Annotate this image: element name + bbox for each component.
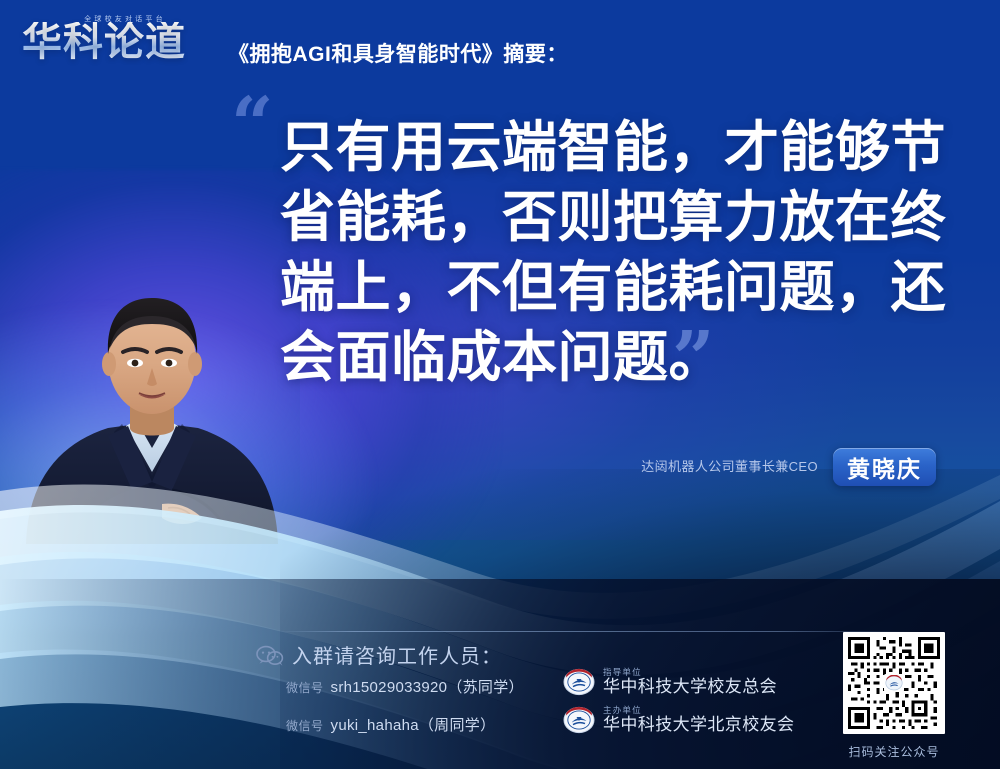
wechat-contact-row: 微信号 srh15029033920（苏同学） [286,676,524,697]
university-emblem-icon [563,668,595,696]
qr-code-block: 扫码关注公众号 [843,632,953,760]
organization-row: 指导单位 华中科技大学校友总会 [563,668,777,697]
wechat-label: 微信号 [286,679,324,696]
poster-root: 全球校友对话平台 华科论道 《拥抱AGI和具身智能时代》摘要： “ 只有用云端智… [0,0,1000,769]
attribution: 达闼机器人公司董事长兼CEO 黄晓庆 [606,448,936,488]
wechat-icon [256,645,284,667]
organization-name: 华中科技大学校友总会 [603,678,777,696]
university-emblem-icon [563,706,595,734]
quote-close-mark: ” [672,330,715,389]
organization-kicker: 指导单位 [603,668,777,677]
quote-line: 省能耗，否则把算力放在终 [280,182,960,252]
qr-caption: 扫码关注公众号 [843,743,945,760]
brand-logo: 全球校友对话平台 华科论道 [22,14,222,72]
organization-text: 主办单位 华中科技大学北京校友会 [603,706,794,735]
brand-name: 华科论道 [22,22,222,62]
organization-kicker: 主办单位 [603,706,794,715]
quote-line: 会面临成本问题。 [280,322,960,392]
speaker-name-badge: 黄晓庆 [833,448,936,486]
page-title: 《拥抱AGI和具身智能时代》摘要： [228,38,568,68]
header: 全球校友对话平台 华科论道 《拥抱AGI和具身智能时代》摘要： [0,0,1000,88]
contact-heading: 入群请咨询工作人员： [292,640,502,669]
footer-divider [278,631,918,632]
wechat-id: srh15029033920（苏同学） [331,676,524,697]
quote-line: 只有用云端智能，才能够节 [280,112,960,182]
wechat-label: 微信号 [286,717,324,734]
quote-text: 只有用云端智能，才能够节 省能耗，否则把算力放在终 端上，不但有能耗问题，还 会… [280,112,960,392]
wechat-contact-row: 微信号 yuki_hahaha（周同学） [286,714,495,735]
qr-center-emblem-icon [884,674,904,692]
quote-open-mark: “ [231,96,274,155]
organization-name: 华中科技大学北京校友会 [603,716,794,734]
quote-line: 端上，不但有能耗问题，还 [280,252,960,322]
organization-text: 指导单位 华中科技大学校友总会 [603,668,777,697]
speaker-role: 达闼机器人公司董事长兼CEO [641,456,818,475]
organization-row: 主办单位 华中科技大学北京校友会 [563,706,794,735]
qr-code-image[interactable] [843,632,945,734]
wechat-id: yuki_hahaha（周同学） [331,714,496,735]
